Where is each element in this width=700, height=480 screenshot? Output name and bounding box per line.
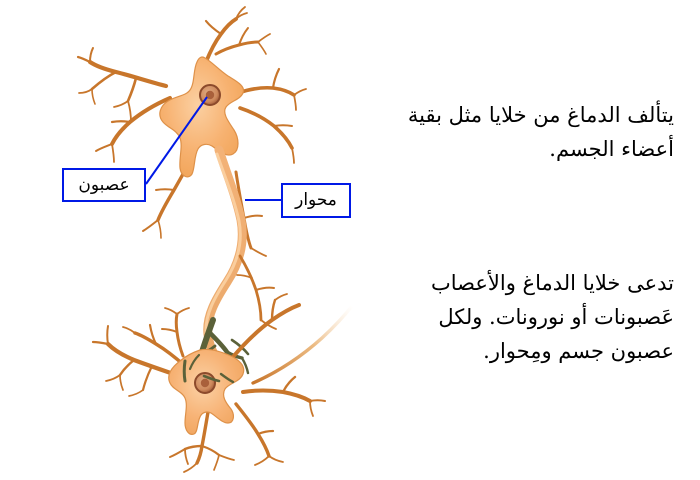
callout-label-axon[interactable]: محوار — [281, 183, 351, 218]
upper-neuron-soma — [160, 57, 244, 177]
page-root: عصبون محوار يتألف الدماغ من خلايا مثل بق… — [0, 0, 700, 480]
lower-neuron — [93, 294, 352, 472]
paragraph-1: يتألف الدماغ من خلايا مثل بقية أعضاء الج… — [374, 98, 674, 166]
neuron-illustration — [0, 0, 360, 480]
text-column: يتألف الدماغ من خلايا مثل بقية أعضاء الج… — [374, 98, 674, 368]
axon-highlight — [206, 154, 240, 333]
callout-neuron-text: عصبون — [78, 177, 129, 194]
faded-fiber — [253, 306, 352, 383]
paragraph-2: تدعى خلايا الدماغ والأعصاب عَصبونات أو ن… — [374, 266, 674, 368]
axon-collateral — [237, 256, 276, 329]
upper-neuron — [78, 7, 306, 256]
callout-label-neuron[interactable]: عصبون — [62, 168, 146, 202]
callout-axon-text: محوار — [295, 192, 337, 209]
